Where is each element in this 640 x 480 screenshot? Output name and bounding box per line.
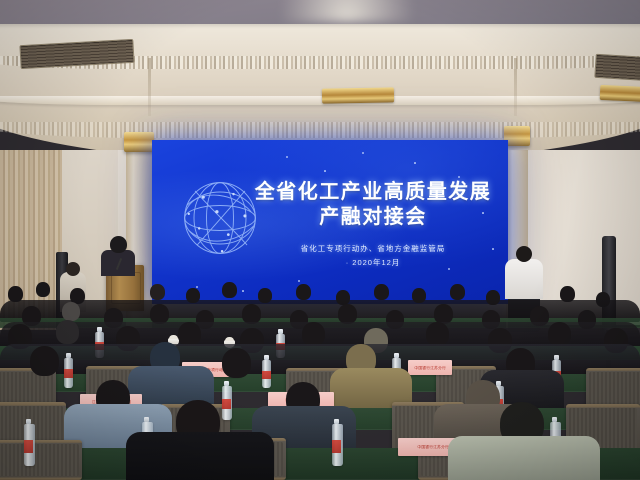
audience-head	[242, 304, 261, 324]
water-bottle	[332, 424, 343, 466]
chair-back	[586, 368, 640, 408]
audience-head	[426, 322, 449, 346]
chair-back	[0, 440, 82, 480]
column-capital-left	[124, 132, 154, 152]
presenter-head	[110, 236, 127, 253]
audience-head	[450, 284, 465, 300]
audience-head	[296, 284, 311, 300]
audience-shoulders	[448, 436, 600, 480]
table-name-card: 中国银行江苏分行	[408, 360, 452, 375]
screen-title-line-2: 产融对接会	[248, 205, 498, 230]
screen-subtitle-organizers: 省化工专项行动办、省地方金融监管局	[248, 243, 498, 255]
audience-head	[222, 348, 251, 378]
screen-title-line-1: 全省化工产业高质量发展	[248, 180, 498, 205]
water-bottle	[24, 424, 35, 466]
ceiling-light-glow	[282, 0, 412, 22]
audience-head	[36, 282, 50, 297]
cornice-seam-right	[514, 58, 517, 116]
audience-head	[222, 282, 237, 298]
name-card-text: 中国银行江苏分行	[417, 444, 449, 450]
audience-head	[548, 322, 571, 346]
audience-head	[302, 322, 325, 346]
audience-head	[62, 302, 80, 321]
water-bottle	[64, 358, 73, 388]
audience-head	[150, 284, 165, 300]
audience-head	[338, 304, 357, 324]
cornice-lip	[0, 96, 640, 105]
screen-title-block: 全省化工产业高质量发展 产融对接会 省化工专项行动办、省地方金融监管局 · 20…	[248, 180, 498, 269]
cornice-ornament-band-lower	[0, 122, 640, 138]
audience-head	[434, 304, 453, 324]
audience-head	[30, 346, 59, 376]
gold-trim-panel-right	[600, 85, 640, 102]
audience-head	[374, 284, 389, 300]
ceiling-air-vent-right	[594, 54, 640, 82]
water-bottle	[222, 386, 232, 420]
gold-trim-panel-center	[322, 87, 394, 103]
audience-head	[56, 320, 79, 344]
audience-head	[178, 322, 201, 346]
standing-attendee-head	[516, 246, 532, 262]
cornice-seam-left	[148, 58, 151, 116]
conference-photo-scene: 全省化工产业高质量发展 产融对接会 省化工专项行动办、省地方金融监管局 · 20…	[0, 0, 640, 480]
audience-head	[150, 304, 169, 324]
water-bottle	[262, 360, 271, 388]
name-card-text: 中国银行江苏分行	[414, 365, 446, 371]
audience-area: 省化工专项行动办 中国银行江苏分行 江苏华昌化工股份公司 南京化学工业集团	[0, 262, 640, 480]
audience-shoulders	[126, 432, 274, 480]
